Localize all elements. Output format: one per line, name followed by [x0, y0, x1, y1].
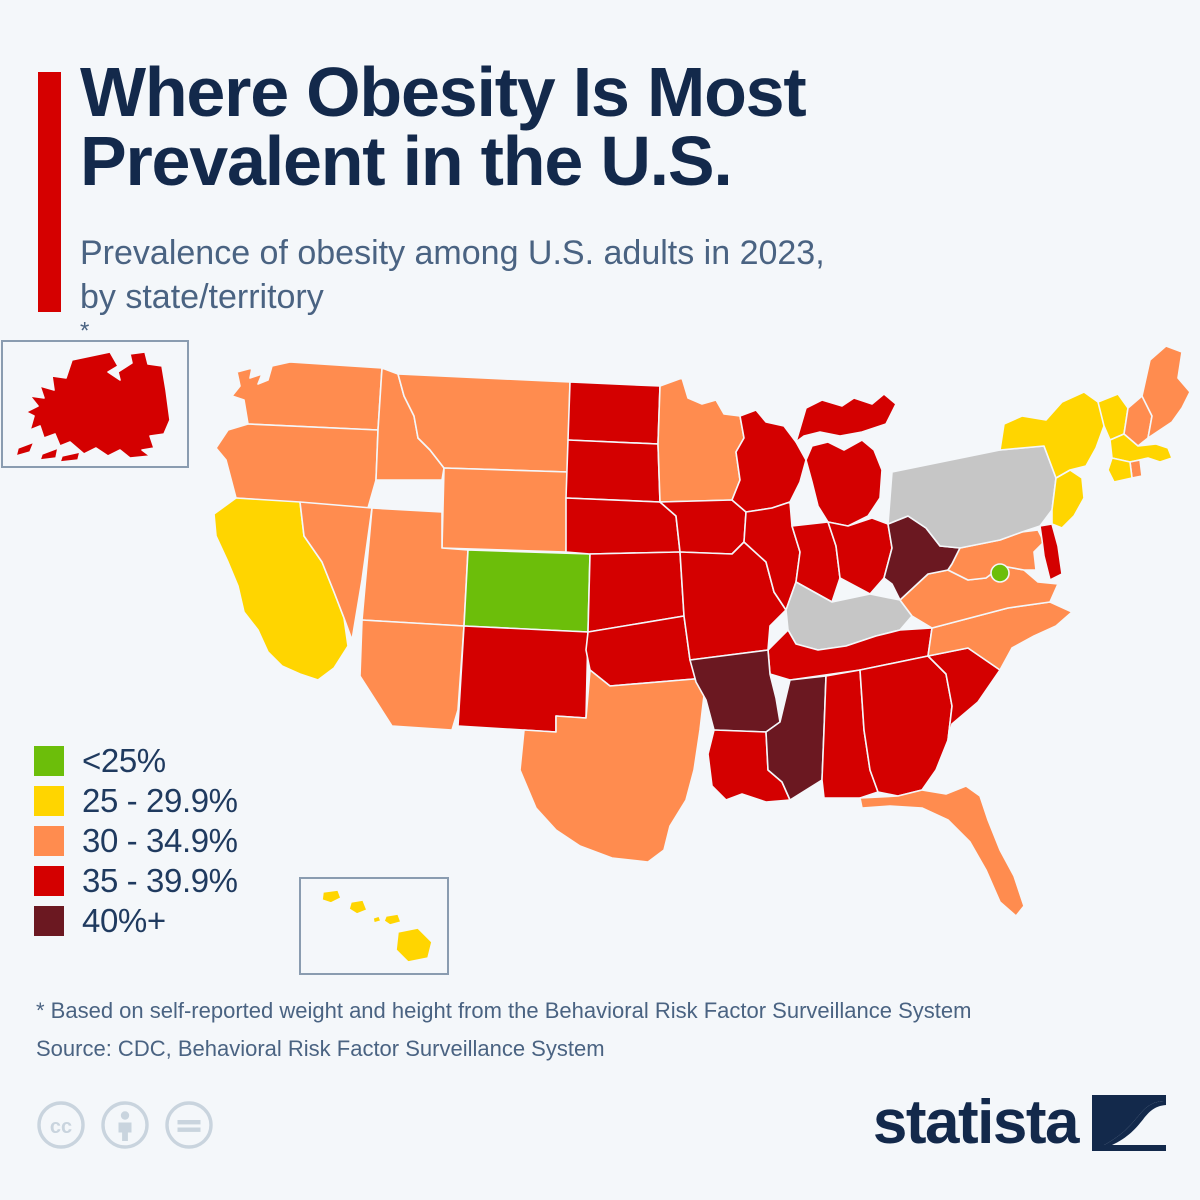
- map-legend: <25% 25 - 29.9% 30 - 34.9% 35 - 39.9% 40…: [34, 742, 238, 942]
- state-OR[interactable]: [216, 424, 378, 508]
- state-MI[interactable]: [796, 394, 896, 526]
- state-WA[interactable]: [232, 362, 382, 430]
- source-text: Source: CDC, Behavioral Risk Factor Surv…: [36, 1038, 1176, 1060]
- title-line-1: Where Obesity Is Most: [80, 58, 1030, 127]
- legend-label-40plus: 40%+: [82, 902, 166, 940]
- legend-item-25-29[interactable]: 25 - 29.9%: [34, 782, 238, 819]
- legend-swatch-35-39: [34, 866, 64, 896]
- cc-nd-equals-icon: [164, 1100, 214, 1150]
- subtitle-line-1: Prevalence of obesity among U.S. adults …: [80, 232, 1040, 276]
- legend-item-40plus[interactable]: 40%+: [34, 902, 238, 939]
- statista-wordmark: statista: [873, 1092, 1078, 1154]
- page-title: Where Obesity Is Most Prevalent in the U…: [80, 58, 1030, 197]
- legend-swatch-lt25: [34, 746, 64, 776]
- title-line-2: Prevalent in the U.S.: [80, 127, 1030, 196]
- statista-logo-mark: [1092, 1095, 1166, 1151]
- state-FL[interactable]: [860, 786, 1024, 916]
- state-MN[interactable]: [658, 378, 744, 502]
- legend-item-lt25[interactable]: <25%: [34, 742, 238, 779]
- state-WI[interactable]: [732, 410, 806, 512]
- state-GA[interactable]: [860, 656, 952, 796]
- state-SD[interactable]: [566, 440, 660, 502]
- legend-label-25-29: 25 - 29.9%: [82, 782, 238, 820]
- cc-icon: cc: [36, 1100, 86, 1150]
- cc-by-person-icon: [100, 1100, 150, 1150]
- state-ND[interactable]: [568, 382, 660, 444]
- legend-swatch-40plus: [34, 906, 64, 936]
- state-AK-aleutians[interactable]: [16, 442, 80, 462]
- state-AR[interactable]: [690, 650, 780, 732]
- state-AZ[interactable]: [360, 620, 464, 730]
- state-WY[interactable]: [442, 468, 568, 552]
- state-DC[interactable]: [991, 564, 1009, 582]
- svg-text:cc: cc: [50, 1116, 72, 1138]
- state-HI[interactable]: [322, 890, 432, 962]
- state-DE[interactable]: [1040, 524, 1062, 580]
- state-CT[interactable]: [1108, 458, 1132, 482]
- state-NJ[interactable]: [1052, 470, 1084, 528]
- footnote-text: * Based on self-reported weight and heig…: [36, 1000, 1176, 1022]
- infographic-page: Where Obesity Is Most Prevalent in the U…: [0, 0, 1200, 1200]
- legend-item-30-34[interactable]: 30 - 34.9%: [34, 822, 238, 859]
- legend-swatch-25-29: [34, 786, 64, 816]
- title-accent-bar: [38, 72, 61, 312]
- legend-label-lt25: <25%: [82, 742, 166, 780]
- statista-logo: statista: [873, 1092, 1166, 1154]
- state-AK[interactable]: [26, 352, 170, 458]
- state-NE[interactable]: [566, 498, 680, 554]
- legend-label-35-39: 35 - 39.9%: [82, 862, 238, 900]
- legend-swatch-30-34: [34, 826, 64, 856]
- legend-label-30-34: 30 - 34.9%: [82, 822, 238, 860]
- license-icons: cc: [36, 1100, 214, 1150]
- legend-item-35-39[interactable]: 35 - 39.9%: [34, 862, 238, 899]
- state-CO[interactable]: [464, 550, 590, 632]
- subtitle-line-2-text: by state/territory: [80, 276, 1040, 320]
